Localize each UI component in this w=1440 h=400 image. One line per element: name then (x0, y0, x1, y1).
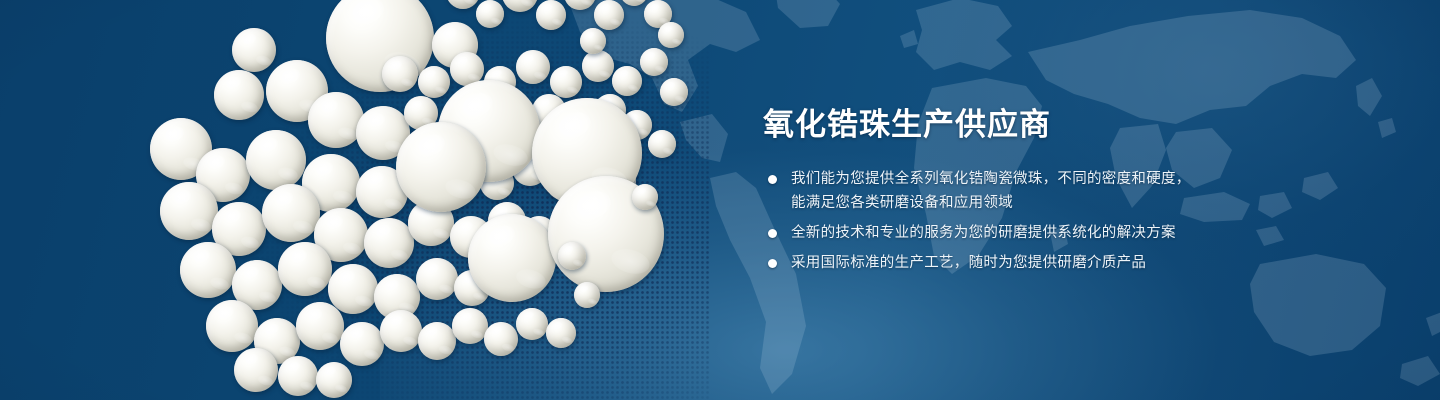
list-item: 采用国际标准的生产工艺，随时为您提供研磨介质产品 (763, 251, 1383, 275)
list-item-line-1: 全新的技术和专业的服务为您的研磨提供系统化的解决方案 (791, 225, 1176, 241)
banner-copy: 氧化锆珠生产供应商 我们能为您提供全系列氧化锆陶瓷微珠，不同的密度和硬度， 能满… (763, 105, 1383, 275)
list-item-line-1: 采用国际标准的生产工艺，随时为您提供研磨介质产品 (791, 255, 1146, 271)
feature-list: 我们能为您提供全系列氧化锆陶瓷微珠，不同的密度和硬度， 能满足您各类研磨设备和应… (763, 167, 1383, 275)
bullet-dot-icon (768, 175, 777, 184)
list-item-line-1: 我们能为您提供全系列氧化锆陶瓷微珠，不同的密度和硬度， (791, 171, 1191, 187)
list-item-label: 全新的技术和专业的服务为您的研磨提供系统化的解决方案 (791, 221, 1383, 245)
hero-banner: 氧化锆珠生产供应商 我们能为您提供全系列氧化锆陶瓷微珠，不同的密度和硬度， 能满… (0, 0, 1440, 400)
list-item-line-2: 能满足您各类研磨设备和应用领域 (791, 191, 1383, 215)
list-item-label: 我们能为您提供全系列氧化锆陶瓷微珠，不同的密度和硬度， 能满足您各类研磨设备和应… (791, 167, 1383, 215)
list-item: 全新的技术和专业的服务为您的研磨提供系统化的解决方案 (763, 221, 1383, 245)
bullet-dot-icon (768, 229, 777, 238)
list-item: 我们能为您提供全系列氧化锆陶瓷微珠，不同的密度和硬度， 能满足您各类研磨设备和应… (763, 167, 1383, 215)
list-item-label: 采用国际标准的生产工艺，随时为您提供研磨介质产品 (791, 251, 1383, 275)
bullet-dot-icon (768, 259, 777, 268)
page-title: 氧化锆珠生产供应商 (763, 105, 1383, 145)
